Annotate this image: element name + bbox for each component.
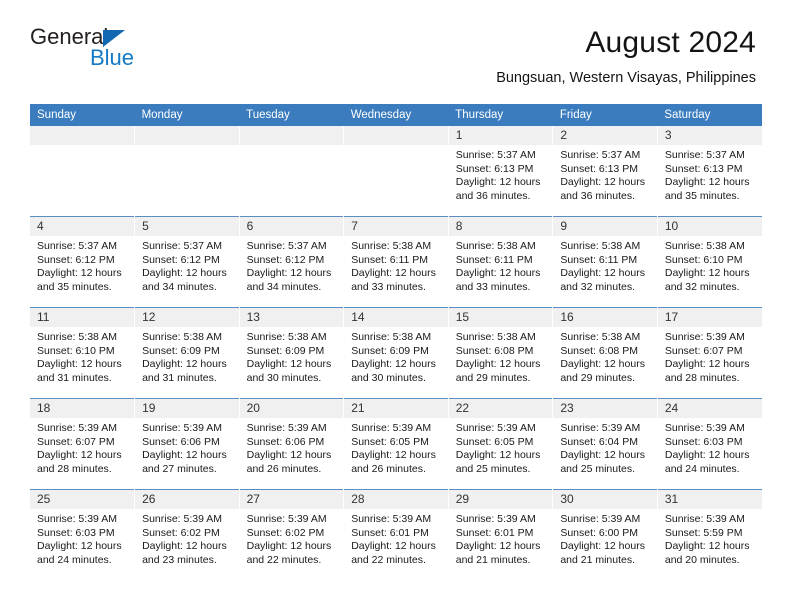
sunrise-text: Sunrise: 5:38 AM (142, 331, 234, 345)
calendar-day-cell[interactable]: 2Sunrise: 5:37 AMSunset: 6:13 PMDaylight… (553, 126, 658, 217)
day-number: 11 (30, 308, 134, 327)
sunrise-text: Sunrise: 5:39 AM (247, 422, 339, 436)
calendar-day-cell[interactable]: 30Sunrise: 5:39 AMSunset: 6:00 PMDayligh… (553, 490, 658, 581)
daylight-text-line1: Daylight: 12 hours (665, 540, 757, 554)
daylight-text-line1: Daylight: 12 hours (142, 267, 234, 281)
day-number: 15 (449, 308, 553, 327)
calendar-day-cell[interactable]: 3Sunrise: 5:37 AMSunset: 6:13 PMDaylight… (657, 126, 762, 217)
daylight-text-line2: and 21 minutes. (560, 554, 652, 568)
sunset-text: Sunset: 6:06 PM (247, 436, 339, 450)
calendar-day-cell[interactable]: 13Sunrise: 5:38 AMSunset: 6:09 PMDayligh… (239, 308, 344, 399)
weekday-header-thursday: Thursday (448, 104, 553, 126)
calendar-day-cell[interactable]: 29Sunrise: 5:39 AMSunset: 6:01 PMDayligh… (448, 490, 553, 581)
sunset-text: Sunset: 6:05 PM (351, 436, 443, 450)
day-number (135, 126, 239, 145)
day-number: 2 (553, 126, 657, 145)
daylight-text-line2: and 33 minutes. (351, 281, 443, 295)
daylight-text-line2: and 26 minutes. (247, 463, 339, 477)
day-number: 23 (553, 399, 657, 418)
daylight-text-line2: and 24 minutes. (665, 463, 757, 477)
daylight-text-line2: and 30 minutes. (351, 372, 443, 386)
day-number: 1 (449, 126, 553, 145)
sunrise-text: Sunrise: 5:38 AM (456, 240, 548, 254)
sunset-text: Sunset: 6:13 PM (665, 163, 757, 177)
daylight-text-line1: Daylight: 12 hours (142, 540, 234, 554)
daylight-text-line1: Daylight: 12 hours (456, 358, 548, 372)
sunset-text: Sunset: 6:00 PM (560, 527, 652, 541)
daylight-text-line2: and 21 minutes. (456, 554, 548, 568)
sunset-text: Sunset: 6:11 PM (351, 254, 443, 268)
daylight-text-line2: and 36 minutes. (456, 190, 548, 204)
day-number: 6 (240, 217, 344, 236)
sunrise-text: Sunrise: 5:38 AM (665, 240, 757, 254)
day-number: 14 (344, 308, 448, 327)
day-sun-info: Sunrise: 5:38 AMSunset: 6:11 PMDaylight:… (553, 236, 657, 294)
location-subtitle: Bungsuan, Western Visayas, Philippines (496, 70, 756, 86)
sunrise-text: Sunrise: 5:37 AM (142, 240, 234, 254)
sunrise-text: Sunrise: 5:39 AM (142, 422, 234, 436)
sunrise-text: Sunrise: 5:39 AM (142, 513, 234, 527)
calendar-day-cell[interactable]: 16Sunrise: 5:38 AMSunset: 6:08 PMDayligh… (553, 308, 658, 399)
sunrise-text: Sunrise: 5:39 AM (560, 513, 652, 527)
daylight-text-line1: Daylight: 12 hours (247, 540, 339, 554)
calendar-day-cell[interactable]: 6Sunrise: 5:37 AMSunset: 6:12 PMDaylight… (239, 217, 344, 308)
day-sun-info: Sunrise: 5:37 AMSunset: 6:13 PMDaylight:… (553, 145, 657, 203)
sunrise-text: Sunrise: 5:38 AM (560, 331, 652, 345)
calendar-day-cell[interactable]: 18Sunrise: 5:39 AMSunset: 6:07 PMDayligh… (30, 399, 135, 490)
daylight-text-line1: Daylight: 12 hours (142, 449, 234, 463)
daylight-text-line1: Daylight: 12 hours (37, 449, 129, 463)
sunrise-text: Sunrise: 5:38 AM (247, 331, 339, 345)
day-sun-info: Sunrise: 5:39 AMSunset: 6:05 PMDaylight:… (449, 418, 553, 476)
day-sun-info: Sunrise: 5:37 AMSunset: 6:13 PMDaylight:… (449, 145, 553, 203)
daylight-text-line2: and 24 minutes. (37, 554, 129, 568)
sunset-text: Sunset: 6:08 PM (456, 345, 548, 359)
day-number: 4 (30, 217, 134, 236)
day-number: 29 (449, 490, 553, 509)
daylight-text-line1: Daylight: 12 hours (560, 358, 652, 372)
sunrise-text: Sunrise: 5:39 AM (665, 331, 757, 345)
daylight-text-line2: and 34 minutes. (247, 281, 339, 295)
sunset-text: Sunset: 6:12 PM (247, 254, 339, 268)
day-sun-info: Sunrise: 5:38 AMSunset: 6:10 PMDaylight:… (30, 327, 134, 385)
sunrise-text: Sunrise: 5:39 AM (560, 422, 652, 436)
daylight-text-line2: and 35 minutes. (665, 190, 757, 204)
sunset-text: Sunset: 6:12 PM (37, 254, 129, 268)
sunset-text: Sunset: 6:10 PM (37, 345, 129, 359)
daylight-text-line1: Daylight: 12 hours (247, 267, 339, 281)
sunrise-text: Sunrise: 5:39 AM (456, 422, 548, 436)
weekday-header-sunday: Sunday (30, 104, 135, 126)
daylight-text-line1: Daylight: 12 hours (456, 540, 548, 554)
daylight-text-line2: and 36 minutes. (560, 190, 652, 204)
calendar-day-cell[interactable]: 10Sunrise: 5:38 AMSunset: 6:10 PMDayligh… (657, 217, 762, 308)
sunset-text: Sunset: 6:09 PM (351, 345, 443, 359)
daylight-text-line1: Daylight: 12 hours (37, 267, 129, 281)
weekday-header-saturday: Saturday (657, 104, 762, 126)
daylight-text-line1: Daylight: 12 hours (665, 176, 757, 190)
daylight-text-line2: and 25 minutes. (456, 463, 548, 477)
weekday-header-row: SundayMondayTuesdayWednesdayThursdayFrid… (30, 104, 762, 126)
day-sun-info: Sunrise: 5:38 AMSunset: 6:09 PMDaylight:… (135, 327, 239, 385)
day-number: 16 (553, 308, 657, 327)
daylight-text-line1: Daylight: 12 hours (351, 267, 443, 281)
calendar-day-cell[interactable]: 21Sunrise: 5:39 AMSunset: 6:05 PMDayligh… (344, 399, 449, 490)
sunrise-text: Sunrise: 5:39 AM (351, 513, 443, 527)
sunrise-sunset-calendar-table: SundayMondayTuesdayWednesdayThursdayFrid… (30, 104, 762, 580)
calendar-day-cell[interactable]: 12Sunrise: 5:38 AMSunset: 6:09 PMDayligh… (135, 308, 240, 399)
daylight-text-line2: and 31 minutes. (142, 372, 234, 386)
daylight-text-line1: Daylight: 12 hours (351, 540, 443, 554)
daylight-text-line2: and 32 minutes. (665, 281, 757, 295)
daylight-text-line1: Daylight: 12 hours (37, 358, 129, 372)
day-number: 9 (553, 217, 657, 236)
calendar-day-cell-empty (135, 126, 240, 217)
daylight-text-line2: and 20 minutes. (665, 554, 757, 568)
day-sun-info: Sunrise: 5:39 AMSunset: 6:05 PMDaylight:… (344, 418, 448, 476)
daylight-text-line1: Daylight: 12 hours (247, 358, 339, 372)
sunrise-text: Sunrise: 5:37 AM (247, 240, 339, 254)
logo-text-blue: Blue (90, 47, 134, 69)
daylight-text-line2: and 33 minutes. (456, 281, 548, 295)
daylight-text-line1: Daylight: 12 hours (37, 540, 129, 554)
sunset-text: Sunset: 6:03 PM (37, 527, 129, 541)
day-sun-info: Sunrise: 5:39 AMSunset: 6:03 PMDaylight:… (30, 509, 134, 567)
calendar-day-cell-empty (30, 126, 135, 217)
daylight-text-line2: and 35 minutes. (37, 281, 129, 295)
daylight-text-line2: and 23 minutes. (142, 554, 234, 568)
sunrise-text: Sunrise: 5:39 AM (247, 513, 339, 527)
sunset-text: Sunset: 6:01 PM (456, 527, 548, 541)
daylight-text-line2: and 31 minutes. (37, 372, 129, 386)
daylight-text-line2: and 28 minutes. (665, 372, 757, 386)
daylight-text-line2: and 26 minutes. (351, 463, 443, 477)
calendar-week-row: 1Sunrise: 5:37 AMSunset: 6:13 PMDaylight… (30, 126, 762, 217)
sunrise-text: Sunrise: 5:38 AM (560, 240, 652, 254)
sunrise-text: Sunrise: 5:38 AM (351, 240, 443, 254)
page-header: General Blue August 2024 Bungsuan, Weste… (0, 0, 792, 72)
calendar-day-cell[interactable]: 25Sunrise: 5:39 AMSunset: 6:03 PMDayligh… (30, 490, 135, 581)
calendar-day-cell[interactable]: 23Sunrise: 5:39 AMSunset: 6:04 PMDayligh… (553, 399, 658, 490)
day-number: 27 (240, 490, 344, 509)
calendar-day-cell[interactable]: 8Sunrise: 5:38 AMSunset: 6:11 PMDaylight… (448, 217, 553, 308)
calendar-day-cell[interactable]: 27Sunrise: 5:39 AMSunset: 6:02 PMDayligh… (239, 490, 344, 581)
sunrise-text: Sunrise: 5:37 AM (665, 149, 757, 163)
daylight-text-line1: Daylight: 12 hours (456, 176, 548, 190)
sunrise-text: Sunrise: 5:39 AM (456, 513, 548, 527)
sunset-text: Sunset: 6:11 PM (456, 254, 548, 268)
calendar-day-cell[interactable]: 1Sunrise: 5:37 AMSunset: 6:13 PMDaylight… (448, 126, 553, 217)
sunrise-text: Sunrise: 5:38 AM (351, 331, 443, 345)
sunset-text: Sunset: 6:02 PM (247, 527, 339, 541)
day-sun-info: Sunrise: 5:38 AMSunset: 6:10 PMDaylight:… (658, 236, 762, 294)
day-number: 24 (658, 399, 762, 418)
day-number: 28 (344, 490, 448, 509)
daylight-text-line2: and 34 minutes. (142, 281, 234, 295)
day-number: 8 (449, 217, 553, 236)
sunrise-text: Sunrise: 5:39 AM (665, 422, 757, 436)
sunrise-text: Sunrise: 5:38 AM (456, 331, 548, 345)
calendar-week-row: 11Sunrise: 5:38 AMSunset: 6:10 PMDayligh… (30, 308, 762, 399)
calendar-page: General Blue August 2024 Bungsuan, Weste… (0, 0, 792, 612)
day-number: 12 (135, 308, 239, 327)
day-sun-info: Sunrise: 5:39 AMSunset: 6:06 PMDaylight:… (240, 418, 344, 476)
sunrise-text: Sunrise: 5:37 AM (560, 149, 652, 163)
weekday-header-tuesday: Tuesday (239, 104, 344, 126)
sunset-text: Sunset: 6:09 PM (142, 345, 234, 359)
daylight-text-line1: Daylight: 12 hours (560, 449, 652, 463)
calendar-week-row: 25Sunrise: 5:39 AMSunset: 6:03 PMDayligh… (30, 490, 762, 581)
general-blue-logo[interactable]: General Blue (30, 26, 160, 74)
calendar-day-cell[interactable]: 31Sunrise: 5:39 AMSunset: 5:59 PMDayligh… (657, 490, 762, 581)
day-sun-info: Sunrise: 5:39 AMSunset: 6:02 PMDaylight:… (240, 509, 344, 567)
sunset-text: Sunset: 6:07 PM (665, 345, 757, 359)
sunset-text: Sunset: 6:06 PM (142, 436, 234, 450)
calendar-day-cell-empty (344, 126, 449, 217)
calendar-day-cell[interactable]: 7Sunrise: 5:38 AMSunset: 6:11 PMDaylight… (344, 217, 449, 308)
daylight-text-line1: Daylight: 12 hours (665, 449, 757, 463)
daylight-text-line2: and 25 minutes. (560, 463, 652, 477)
day-number: 3 (658, 126, 762, 145)
sunrise-text: Sunrise: 5:39 AM (665, 513, 757, 527)
sunset-text: Sunset: 6:04 PM (560, 436, 652, 450)
daylight-text-line2: and 29 minutes. (456, 372, 548, 386)
calendar-week-row: 18Sunrise: 5:39 AMSunset: 6:07 PMDayligh… (30, 399, 762, 490)
calendar-day-cell[interactable]: 9Sunrise: 5:38 AMSunset: 6:11 PMDaylight… (553, 217, 658, 308)
daylight-text-line2: and 22 minutes. (247, 554, 339, 568)
day-sun-info: Sunrise: 5:39 AMSunset: 6:01 PMDaylight:… (449, 509, 553, 567)
day-sun-info: Sunrise: 5:39 AMSunset: 6:07 PMDaylight:… (30, 418, 134, 476)
day-number: 25 (30, 490, 134, 509)
calendar-day-cell[interactable]: 14Sunrise: 5:38 AMSunset: 6:09 PMDayligh… (344, 308, 449, 399)
sunrise-text: Sunrise: 5:39 AM (37, 513, 129, 527)
daylight-text-line1: Daylight: 12 hours (560, 540, 652, 554)
day-number: 17 (658, 308, 762, 327)
day-number: 5 (135, 217, 239, 236)
calendar-day-cell[interactable]: 4Sunrise: 5:37 AMSunset: 6:12 PMDaylight… (30, 217, 135, 308)
calendar-day-cell[interactable]: 19Sunrise: 5:39 AMSunset: 6:06 PMDayligh… (135, 399, 240, 490)
daylight-text-line2: and 22 minutes. (351, 554, 443, 568)
day-sun-info: Sunrise: 5:39 AMSunset: 6:03 PMDaylight:… (658, 418, 762, 476)
daylight-text-line1: Daylight: 12 hours (247, 449, 339, 463)
daylight-text-line1: Daylight: 12 hours (665, 267, 757, 281)
day-sun-info: Sunrise: 5:39 AMSunset: 6:01 PMDaylight:… (344, 509, 448, 567)
calendar-day-cell[interactable]: 26Sunrise: 5:39 AMSunset: 6:02 PMDayligh… (135, 490, 240, 581)
sunset-text: Sunset: 6:01 PM (351, 527, 443, 541)
day-sun-info: Sunrise: 5:39 AMSunset: 6:07 PMDaylight:… (658, 327, 762, 385)
weekday-header-wednesday: Wednesday (344, 104, 449, 126)
day-sun-info: Sunrise: 5:37 AMSunset: 6:12 PMDaylight:… (240, 236, 344, 294)
sunset-text: Sunset: 5:59 PM (665, 527, 757, 541)
day-sun-info: Sunrise: 5:39 AMSunset: 6:06 PMDaylight:… (135, 418, 239, 476)
calendar-header-row: SundayMondayTuesdayWednesdayThursdayFrid… (30, 104, 762, 126)
weekday-header-monday: Monday (135, 104, 240, 126)
weekday-header-friday: Friday (553, 104, 658, 126)
day-sun-info: Sunrise: 5:37 AMSunset: 6:12 PMDaylight:… (135, 236, 239, 294)
sunset-text: Sunset: 6:10 PM (665, 254, 757, 268)
day-number: 26 (135, 490, 239, 509)
daylight-text-line2: and 27 minutes. (142, 463, 234, 477)
day-number: 20 (240, 399, 344, 418)
day-sun-info: Sunrise: 5:39 AMSunset: 6:02 PMDaylight:… (135, 509, 239, 567)
sunset-text: Sunset: 6:12 PM (142, 254, 234, 268)
calendar-day-cell[interactable]: 11Sunrise: 5:38 AMSunset: 6:10 PMDayligh… (30, 308, 135, 399)
day-number: 18 (30, 399, 134, 418)
sunrise-text: Sunrise: 5:37 AM (456, 149, 548, 163)
sunset-text: Sunset: 6:07 PM (37, 436, 129, 450)
day-number: 30 (553, 490, 657, 509)
daylight-text-line2: and 32 minutes. (560, 281, 652, 295)
day-number: 31 (658, 490, 762, 509)
calendar-day-cell[interactable]: 20Sunrise: 5:39 AMSunset: 6:06 PMDayligh… (239, 399, 344, 490)
daylight-text-line1: Daylight: 12 hours (456, 267, 548, 281)
daylight-text-line1: Daylight: 12 hours (456, 449, 548, 463)
day-sun-info: Sunrise: 5:38 AMSunset: 6:09 PMDaylight:… (240, 327, 344, 385)
day-sun-info: Sunrise: 5:39 AMSunset: 6:00 PMDaylight:… (553, 509, 657, 567)
day-sun-info: Sunrise: 5:38 AMSunset: 6:11 PMDaylight:… (344, 236, 448, 294)
daylight-text-line1: Daylight: 12 hours (351, 358, 443, 372)
day-sun-info: Sunrise: 5:37 AMSunset: 6:13 PMDaylight:… (658, 145, 762, 203)
daylight-text-line2: and 29 minutes. (560, 372, 652, 386)
day-number: 13 (240, 308, 344, 327)
sunset-text: Sunset: 6:13 PM (560, 163, 652, 177)
sunrise-text: Sunrise: 5:38 AM (37, 331, 129, 345)
sunset-text: Sunset: 6:09 PM (247, 345, 339, 359)
calendar-day-cell[interactable]: 5Sunrise: 5:37 AMSunset: 6:12 PMDaylight… (135, 217, 240, 308)
calendar-day-cell[interactable]: 28Sunrise: 5:39 AMSunset: 6:01 PMDayligh… (344, 490, 449, 581)
calendar-day-cell[interactable]: 24Sunrise: 5:39 AMSunset: 6:03 PMDayligh… (657, 399, 762, 490)
sunset-text: Sunset: 6:03 PM (665, 436, 757, 450)
day-number: 22 (449, 399, 553, 418)
sunset-text: Sunset: 6:11 PM (560, 254, 652, 268)
day-number (344, 126, 448, 145)
day-sun-info: Sunrise: 5:39 AMSunset: 6:04 PMDaylight:… (553, 418, 657, 476)
calendar-day-cell-empty (239, 126, 344, 217)
day-sun-info: Sunrise: 5:38 AMSunset: 6:11 PMDaylight:… (449, 236, 553, 294)
day-sun-info: Sunrise: 5:37 AMSunset: 6:12 PMDaylight:… (30, 236, 134, 294)
daylight-text-line2: and 30 minutes. (247, 372, 339, 386)
daylight-text-line1: Daylight: 12 hours (142, 358, 234, 372)
title-block: August 2024 Bungsuan, Western Visayas, P… (496, 26, 756, 86)
day-number: 7 (344, 217, 448, 236)
sunset-text: Sunset: 6:05 PM (456, 436, 548, 450)
daylight-text-line1: Daylight: 12 hours (560, 267, 652, 281)
sunset-text: Sunset: 6:02 PM (142, 527, 234, 541)
calendar-day-cell[interactable]: 15Sunrise: 5:38 AMSunset: 6:08 PMDayligh… (448, 308, 553, 399)
day-number: 10 (658, 217, 762, 236)
day-number (240, 126, 344, 145)
page-title: August 2024 (496, 26, 756, 60)
daylight-text-line2: and 28 minutes. (37, 463, 129, 477)
day-number: 21 (344, 399, 448, 418)
day-sun-info: Sunrise: 5:39 AMSunset: 5:59 PMDaylight:… (658, 509, 762, 567)
day-sun-info: Sunrise: 5:38 AMSunset: 6:08 PMDaylight:… (449, 327, 553, 385)
sunrise-text: Sunrise: 5:39 AM (37, 422, 129, 436)
daylight-text-line1: Daylight: 12 hours (351, 449, 443, 463)
sunrise-text: Sunrise: 5:37 AM (37, 240, 129, 254)
sunset-text: Sunset: 6:08 PM (560, 345, 652, 359)
calendar-day-cell[interactable]: 17Sunrise: 5:39 AMSunset: 6:07 PMDayligh… (657, 308, 762, 399)
calendar-week-row: 4Sunrise: 5:37 AMSunset: 6:12 PMDaylight… (30, 217, 762, 308)
day-number (30, 126, 134, 145)
sunrise-text: Sunrise: 5:39 AM (351, 422, 443, 436)
sunset-text: Sunset: 6:13 PM (456, 163, 548, 177)
calendar-body: 1Sunrise: 5:37 AMSunset: 6:13 PMDaylight… (30, 126, 762, 580)
daylight-text-line1: Daylight: 12 hours (560, 176, 652, 190)
day-number: 19 (135, 399, 239, 418)
day-sun-info: Sunrise: 5:38 AMSunset: 6:09 PMDaylight:… (344, 327, 448, 385)
calendar-day-cell[interactable]: 22Sunrise: 5:39 AMSunset: 6:05 PMDayligh… (448, 399, 553, 490)
daylight-text-line1: Daylight: 12 hours (665, 358, 757, 372)
day-sun-info: Sunrise: 5:38 AMSunset: 6:08 PMDaylight:… (553, 327, 657, 385)
